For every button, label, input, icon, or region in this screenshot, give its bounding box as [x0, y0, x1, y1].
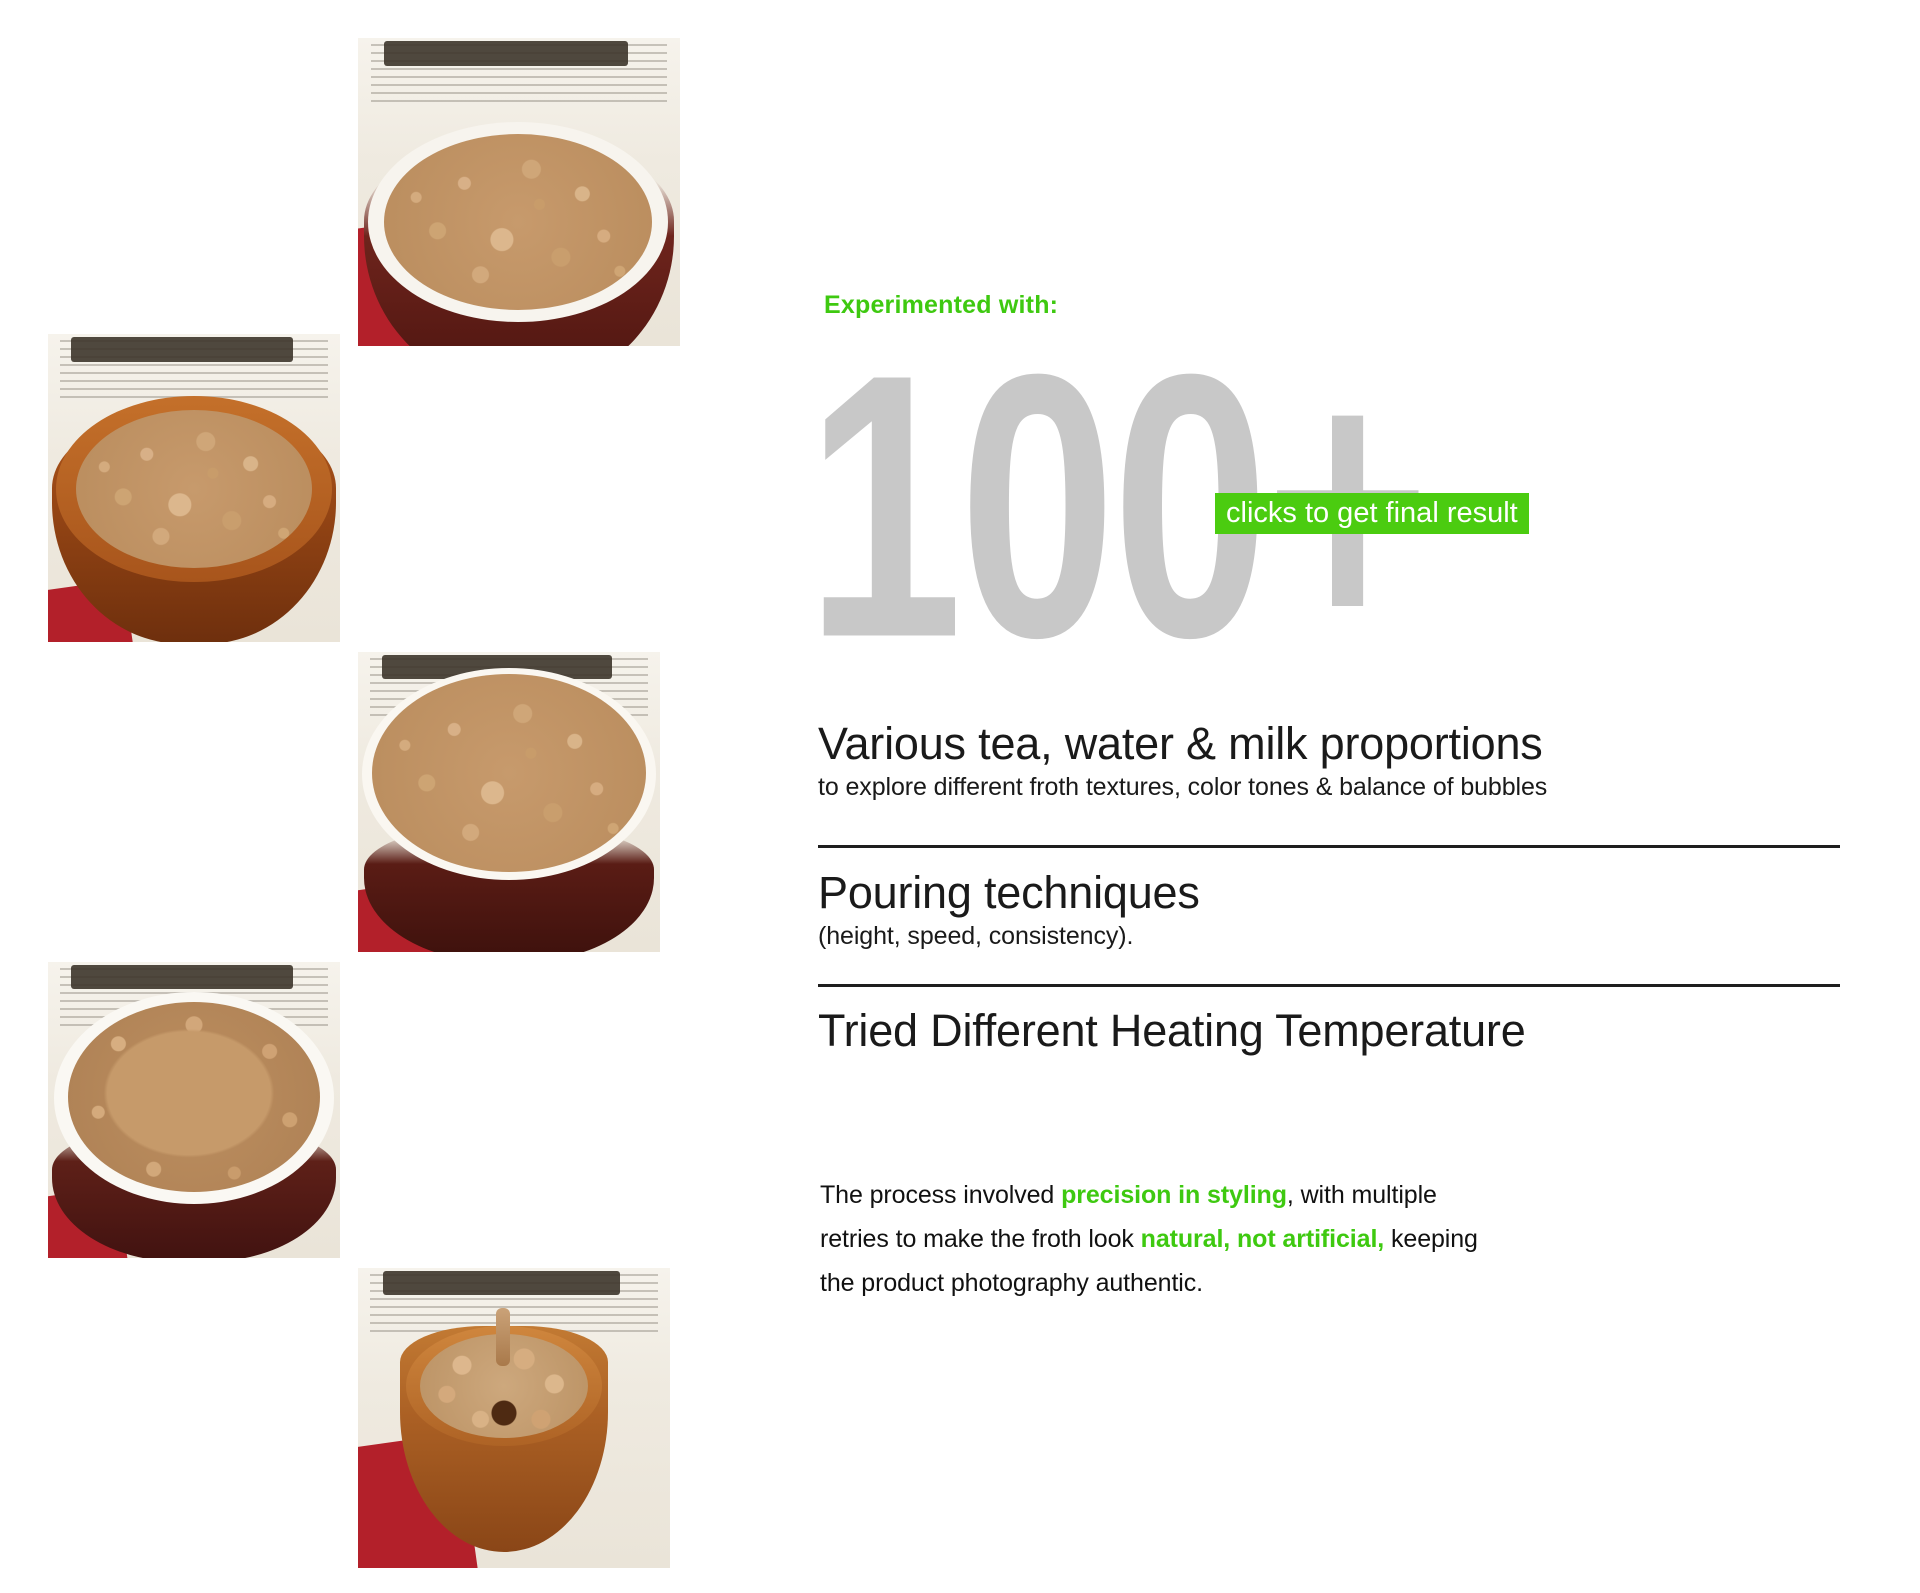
pour-stream [496, 1308, 510, 1366]
highlight-natural-not-artificial: natural, not artificial, [1141, 1225, 1384, 1253]
paragraph-line2-suffix: keeping [1384, 1225, 1478, 1253]
click-count-tag: clicks to get final result [1215, 493, 1529, 534]
content-column: Experimented with: 100+ clicks to get fi… [818, 0, 1878, 1593]
block-title: Pouring techniques [818, 867, 1840, 919]
experiment-block-proportions: Various tea, water & milk proportions to… [818, 718, 1840, 804]
experiment-block-temperature: Tried Different Heating Temperature [818, 1005, 1840, 1057]
photo-chai-4[interactable] [48, 962, 340, 1258]
block-title: Tried Different Heating Temperature [818, 1005, 1840, 1057]
block-title: Various tea, water & milk proportions [818, 718, 1840, 770]
experiment-block-pouring: Pouring techniques (height, speed, consi… [818, 867, 1840, 953]
divider-1 [818, 845, 1840, 848]
block-subtitle: (height, speed, consistency). [818, 919, 1840, 953]
photo-chai-1[interactable] [358, 38, 680, 346]
highlight-precision-in-styling: precision in styling [1061, 1181, 1287, 1209]
photo-chai-5[interactable] [358, 1268, 670, 1568]
photo-chai-3[interactable] [358, 652, 660, 952]
paragraph-line1-prefix: The process involved [820, 1181, 1061, 1209]
paragraph-line1-suffix: , with multiple [1287, 1181, 1437, 1209]
chai-froth [372, 674, 646, 872]
chai-froth [384, 134, 652, 310]
paragraph-line2-prefix: retries to make the froth look [820, 1225, 1141, 1253]
divider-2 [818, 984, 1840, 987]
block-subtitle: to explore different froth textures, col… [818, 770, 1840, 804]
chai-froth [76, 410, 312, 568]
chai-froth [68, 1002, 320, 1192]
closing-paragraph: The process involved precision in stylin… [820, 1173, 1720, 1305]
photo-chai-2[interactable] [48, 334, 340, 642]
paragraph-line3: the product photography authentic. [820, 1269, 1203, 1297]
